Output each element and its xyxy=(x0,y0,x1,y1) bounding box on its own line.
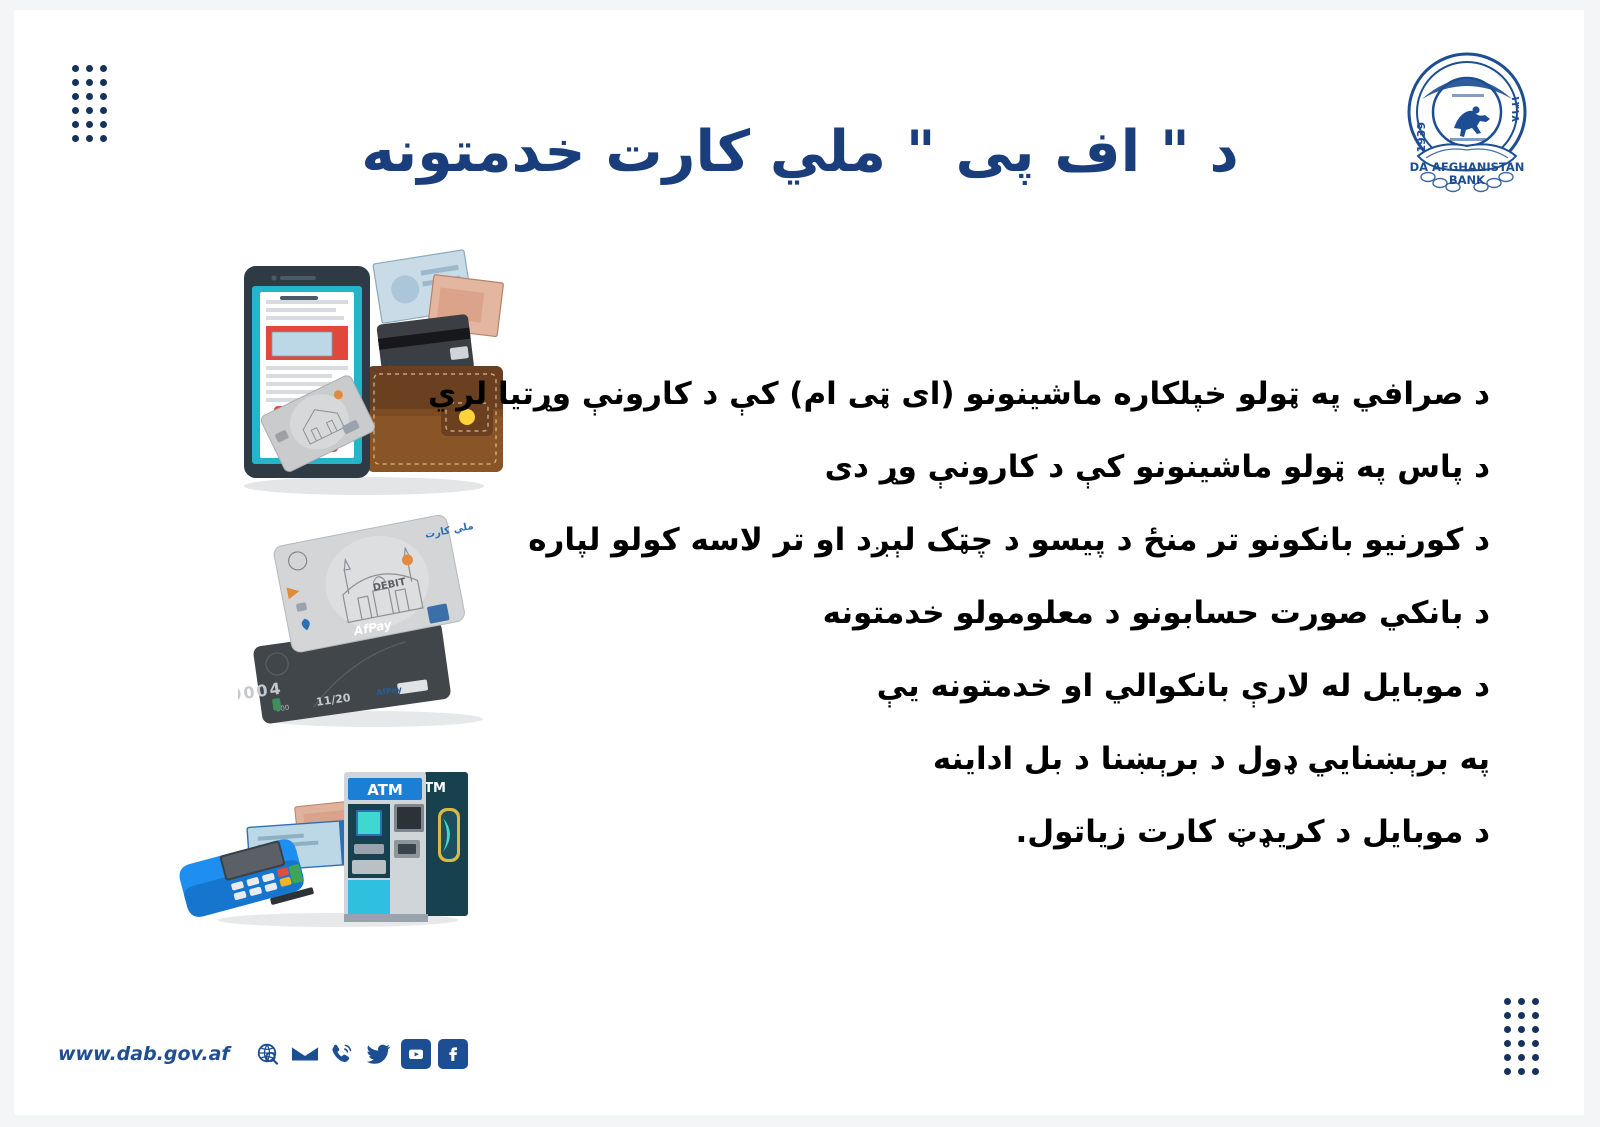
phone-icon[interactable] xyxy=(327,1039,357,1069)
youtube-icon[interactable] xyxy=(401,1039,431,1069)
service-line-1: د صرافي په ټولو خپلکاره ماشينونو (ای ټی … xyxy=(480,358,1490,431)
atm-pos-illustration: ATM ATM xyxy=(168,748,478,928)
atm-front-label: ATM xyxy=(367,781,403,799)
footer-bar: www.dab.gov.af xyxy=(58,1039,468,1069)
service-line-2: د پاس په ټولو ماشينونو کې د کارونې وړ دی xyxy=(480,431,1490,504)
website-globe-icon[interactable] xyxy=(253,1039,283,1069)
service-line-7: د موبايل د کريډټ کارت زياتول. xyxy=(480,796,1490,869)
page-title: د " اف پی " ملي کارت خدمتونه xyxy=(0,118,1600,186)
service-line-5: د موبايل له لارې بانکوالي او خدمتونه يې xyxy=(480,650,1490,723)
facebook-icon[interactable] xyxy=(438,1039,468,1069)
website-url[interactable]: www.dab.gov.af xyxy=(58,1043,240,1065)
service-list: د صرافي په ټولو خپلکاره ماشينونو (ای ټی … xyxy=(480,358,1490,869)
bank-cards-illustration: 9004 1234 9876 0000 900 11/20 AfPay xyxy=(238,505,508,730)
poster-page: 1939 ١٣١٨ DA AFGHANISTAN BANK د " اف پی xyxy=(0,0,1600,1127)
service-line-3: د کورنيو بانکونو تر منځ د پيسو د چټک لېږ… xyxy=(480,504,1490,577)
service-line-4: د بانکي صورت حسابونو د معلومولو خدمتونه xyxy=(480,577,1490,650)
service-line-6: په برېښنايي ډول د برېښنا د بل اداينه xyxy=(480,723,1490,796)
dot-grid-bottom-right xyxy=(1500,995,1542,1079)
page-edge-top xyxy=(0,0,1600,10)
page-edge-bottom xyxy=(0,1115,1600,1127)
email-icon[interactable] xyxy=(290,1039,320,1069)
twitter-icon[interactable] xyxy=(364,1039,394,1069)
